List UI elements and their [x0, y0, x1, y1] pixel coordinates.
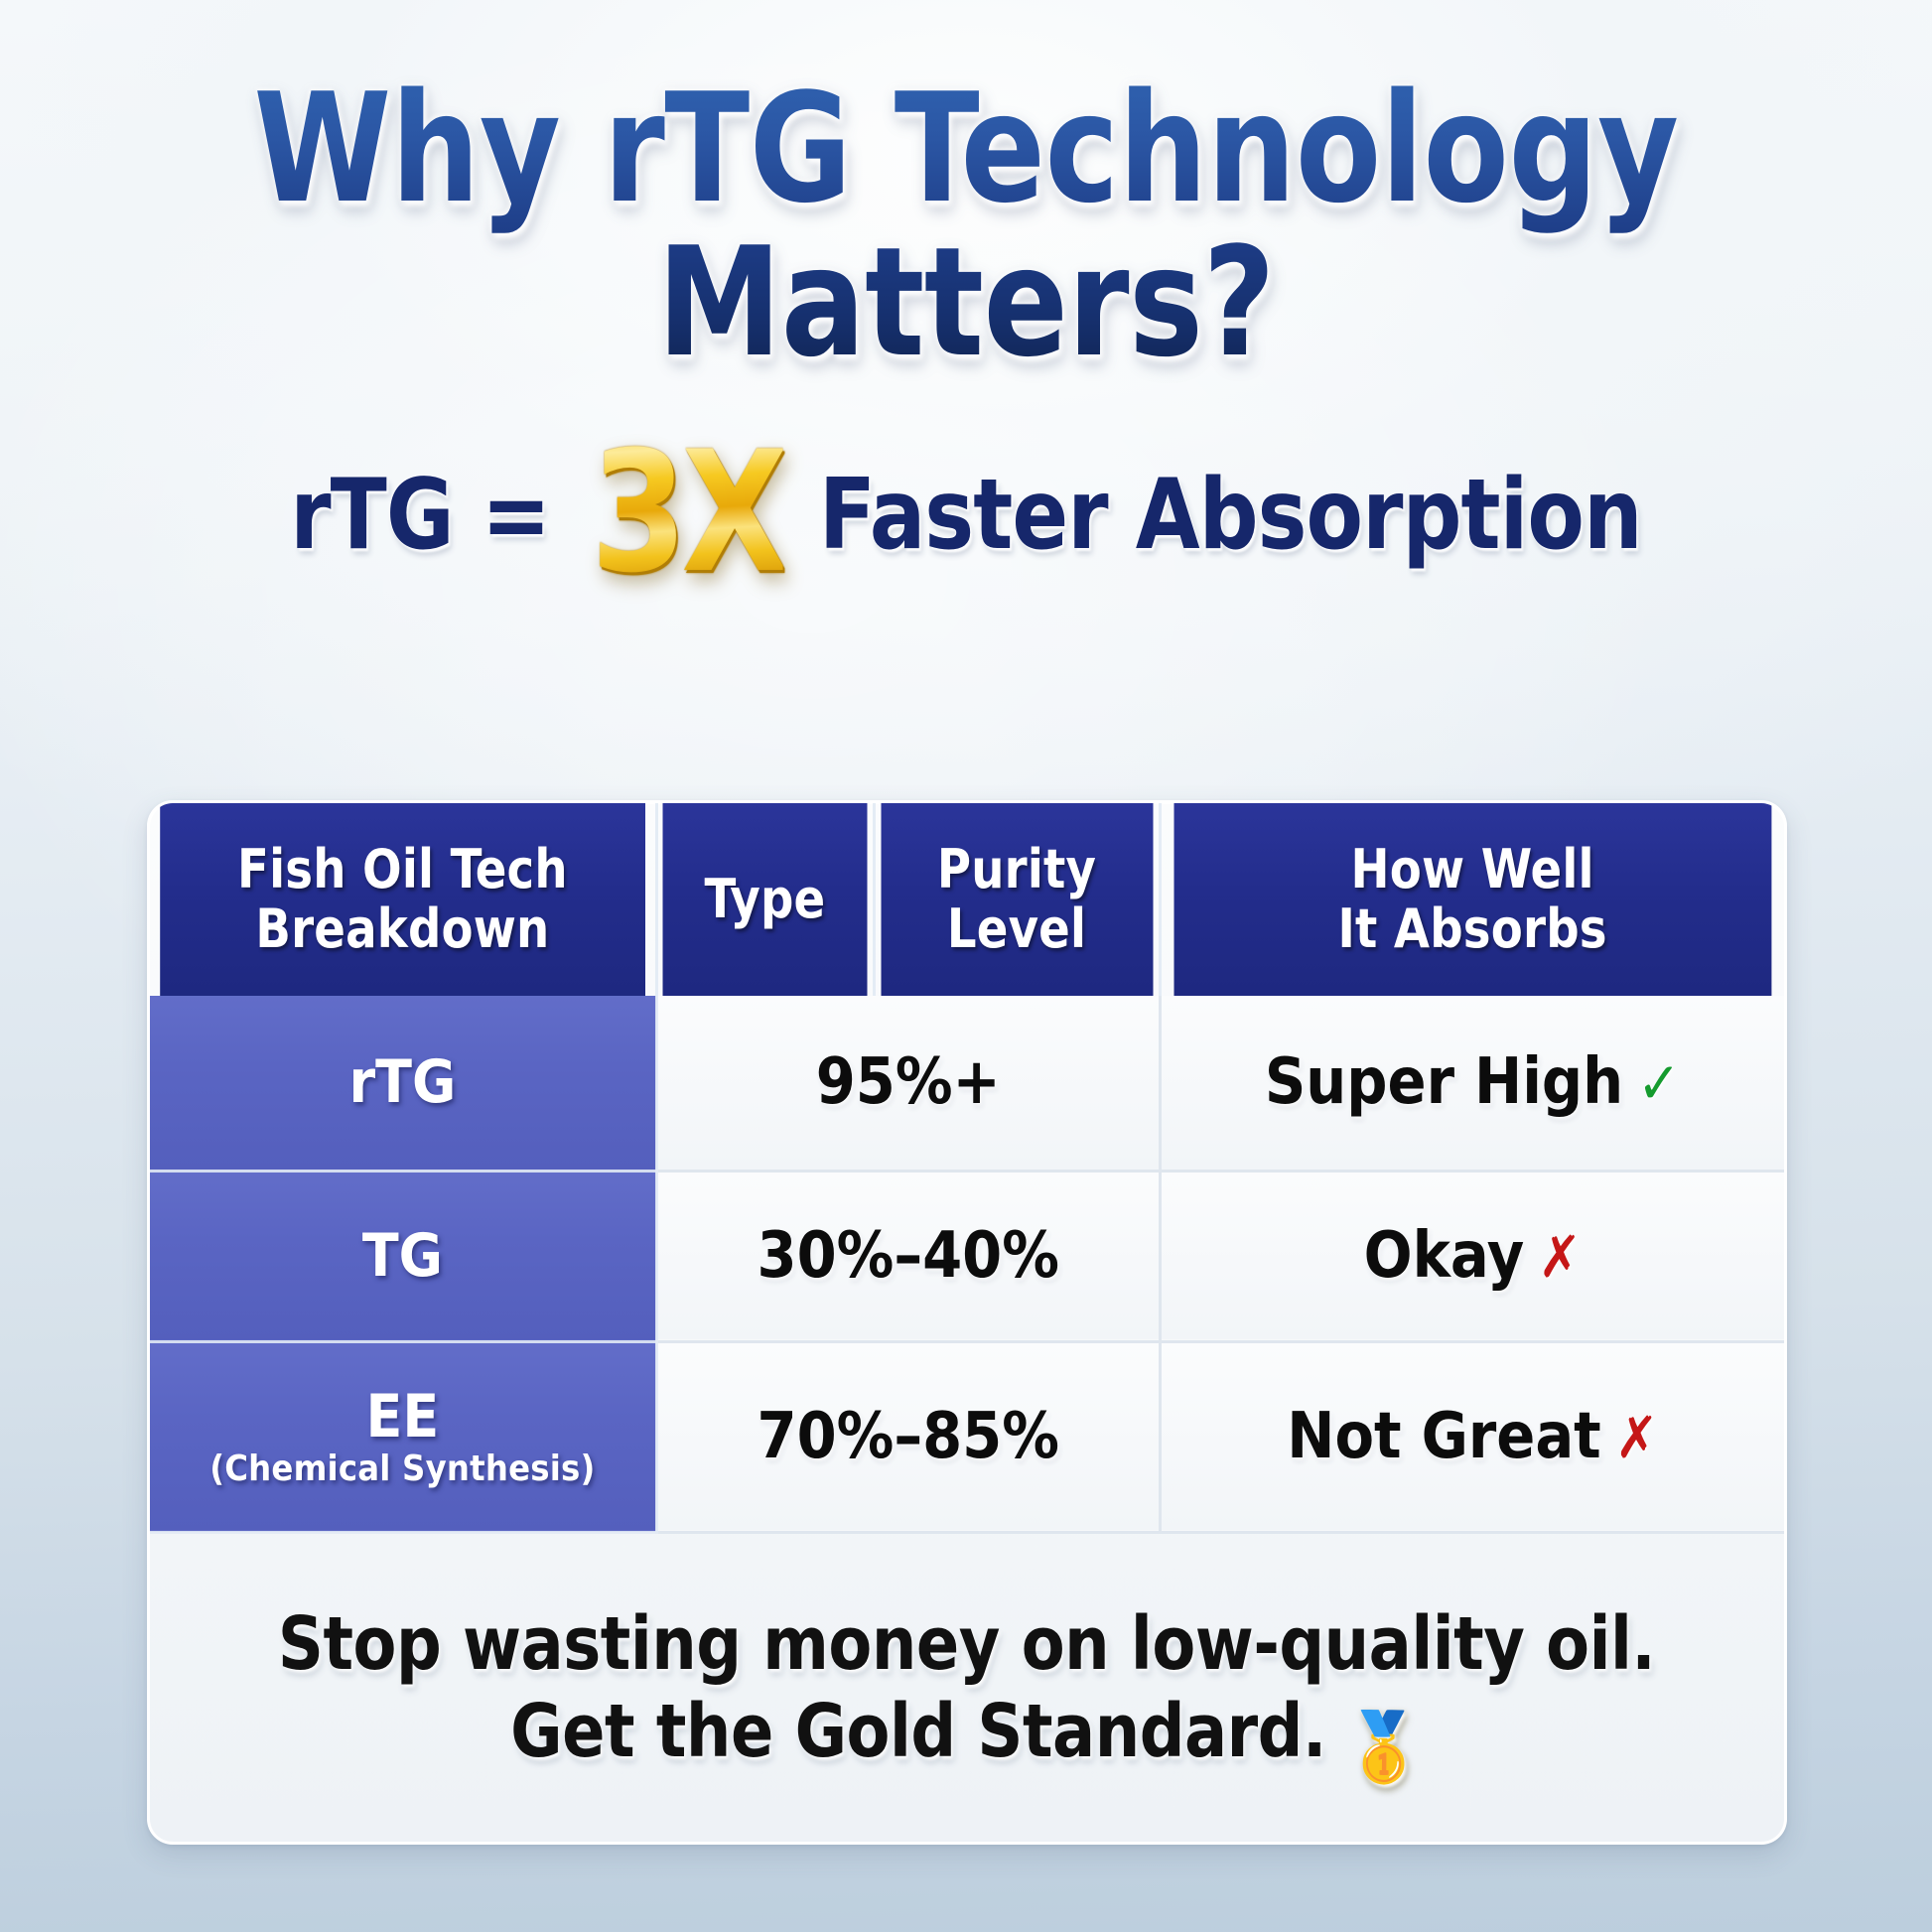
- row-purity-tg-value: 30%–40%: [758, 1219, 1059, 1293]
- table-header-row: Fish Oil Tech Breakdown Type Purity Leve…: [150, 803, 1784, 996]
- comparison-card: Fish Oil Tech Breakdown Type Purity Leve…: [147, 800, 1787, 1845]
- column-header-purity-line2: Level: [947, 897, 1086, 960]
- table-row: TG 30%–40% Okay✗: [150, 1171, 1784, 1341]
- column-header-breakdown-line1: Fish Oil Tech: [237, 838, 568, 900]
- cta-line2-wrap: Get the Gold Standard.🥇: [510, 1689, 1424, 1788]
- column-header-type-label: Type: [705, 868, 826, 930]
- table-row: rTG 95%+ Super High✓: [150, 996, 1784, 1171]
- row-purity-ee: 70%–85%: [656, 1341, 1160, 1532]
- row-absorption-tg-value: Okay: [1364, 1219, 1525, 1293]
- table-row: EE (Chemical Synthesis) 70%–85% Not Grea…: [150, 1341, 1784, 1532]
- row-purity-tg: 30%–40%: [656, 1171, 1160, 1341]
- column-header-absorption-line1: How Well: [1351, 838, 1594, 900]
- row-label-ee-subtext: (Chemical Synthesis): [150, 1450, 655, 1488]
- subheadline: rTG = 3X Faster Absorption: [49, 429, 1884, 596]
- column-header-purity-line1: Purity: [937, 838, 1096, 900]
- multiplier-badge: 3X: [591, 429, 782, 596]
- page-title-line2: Matters?: [77, 225, 1855, 379]
- row-purity-rtg-value: 95%+: [816, 1045, 1001, 1119]
- row-label-ee-text: EE: [365, 1382, 439, 1451]
- column-header-absorption: How Well It Absorbs: [1173, 803, 1772, 996]
- subheadline-prefix: rTG =: [290, 459, 578, 572]
- cross-icon: ✗: [1538, 1223, 1582, 1291]
- row-purity-ee-value: 70%–85%: [758, 1400, 1059, 1473]
- column-header-absorption-line2: It Absorbs: [1338, 897, 1607, 960]
- row-label-tg-text: TG: [362, 1221, 443, 1291]
- row-absorption-tg: Okay✗: [1160, 1171, 1784, 1341]
- column-header-purity: Purity Level: [880, 803, 1155, 996]
- row-absorption-ee: Not Great✗: [1160, 1341, 1784, 1532]
- page-title-line1: Why rTG Technology: [253, 61, 1678, 236]
- row-label-tg: TG: [150, 1171, 656, 1341]
- cross-icon: ✗: [1615, 1404, 1659, 1471]
- subheadline-suffix: Faster Absorption: [791, 459, 1642, 572]
- row-purity-rtg: 95%+: [656, 996, 1160, 1171]
- row-absorption-rtg-value: Super High: [1265, 1045, 1623, 1119]
- check-icon: ✓: [1637, 1049, 1681, 1117]
- column-header-breakdown: Fish Oil Tech Breakdown: [160, 803, 646, 996]
- row-label-ee: EE (Chemical Synthesis): [150, 1341, 656, 1532]
- column-header-type: Type: [661, 803, 870, 996]
- cta-line2: Get the Gold Standard.: [510, 1689, 1326, 1774]
- row-absorption-rtg: Super High✓: [1160, 996, 1784, 1171]
- row-label-rtg: rTG: [150, 996, 656, 1171]
- fish-oil-comparison-table: Fish Oil Tech Breakdown Type Purity Leve…: [150, 803, 1784, 1534]
- row-absorption-ee-value: Not Great: [1287, 1400, 1600, 1473]
- row-label-rtg-text: rTG: [348, 1047, 456, 1117]
- gold-medal-icon: 🥇: [1343, 1709, 1424, 1788]
- page-title: Why rTG Technology Matters?: [77, 71, 1855, 379]
- call-to-action: Stop wasting money on low-quality oil. G…: [150, 1542, 1784, 1845]
- cta-line1: Stop wasting money on low-quality oil.: [278, 1601, 1655, 1688]
- column-header-breakdown-line2: Breakdown: [255, 897, 549, 960]
